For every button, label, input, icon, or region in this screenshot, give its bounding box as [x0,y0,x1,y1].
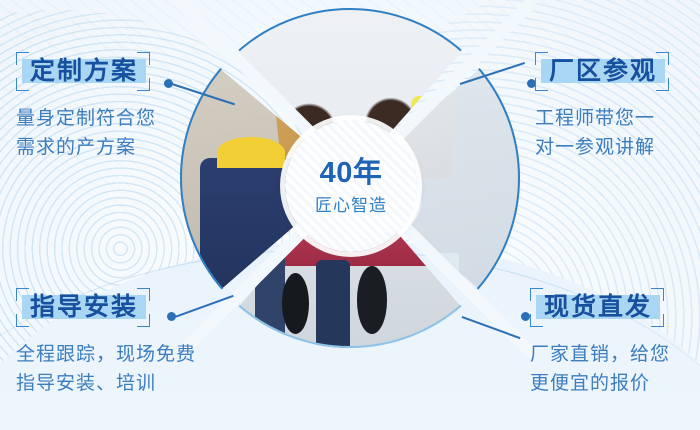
corner-bracket-top-left-icon [16,288,29,301]
center-headline: 40年 [320,159,383,188]
feature-description-line-1: 厂家直销，给您 [530,340,670,369]
feature-install-guidance[interactable]: 指导安装 全程跟踪，现场免费 指导安装、培训 [16,288,196,399]
feature-description-line-1: 全程跟踪，现场免费 [16,340,196,369]
feature-description-line-2: 对一参观讲解 [535,133,669,162]
feature-title: 定制方案 [30,59,138,84]
feature-title-box-install-guidance: 指导安装 [16,288,150,327]
corner-bracket-top-right-icon [656,52,669,65]
center-badge: 40年 匠心智造 [285,120,417,252]
feature-title-box-in-stock-direct: 现货直发 [530,288,664,327]
corner-bracket-bottom-left-icon [530,314,543,327]
feature-description: 厂家直销，给您 更便宜的报价 [530,340,670,399]
corner-bracket-bottom-left-icon [535,78,548,91]
feature-description-line-2: 更便宜的报价 [530,369,670,398]
feature-factory-visit[interactable]: 厂区参观 工程师带您一 对一参观讲解 [535,52,669,163]
photo-circle: 40年 匠心智造 [180,8,520,388]
feature-title: 现货直发 [544,295,652,320]
corner-bracket-bottom-right-icon [656,78,669,91]
corner-bracket-top-left-icon [530,288,543,301]
feature-description-line-2: 需求的产方案 [16,133,156,162]
corner-bracket-bottom-right-icon [137,314,150,327]
corner-bracket-bottom-left-icon [16,78,29,91]
feature-description: 工程师带您一 对一参观讲解 [535,104,669,163]
center-subline: 匠心智造 [315,197,387,214]
corner-bracket-bottom-right-icon [651,314,664,327]
feature-in-stock-direct[interactable]: 现货直发 厂家直销，给您 更便宜的报价 [530,288,670,399]
feature-custom-solution[interactable]: 定制方案 量身定制符合您 需求的产方案 [16,52,156,163]
feature-title-box-factory-visit: 厂区参观 [535,52,669,91]
corner-bracket-bottom-right-icon [137,78,150,91]
corner-bracket-top-left-icon [16,52,29,65]
feature-description-line-1: 工程师带您一 [535,104,669,133]
feature-description-line-2: 指导安装、培训 [16,369,196,398]
corner-bracket-top-right-icon [137,52,150,65]
feature-title-box-custom-solution: 定制方案 [16,52,150,91]
banner-root: 40年 匠心智造 定制方案 量身定制符合您 需求的产方案 [0,0,700,430]
corner-bracket-top-right-icon [651,288,664,301]
feature-title: 厂区参观 [549,59,657,84]
corner-bracket-bottom-left-icon [16,314,29,327]
feature-description: 全程跟踪，现场免费 指导安装、培训 [16,340,196,399]
corner-bracket-top-right-icon [137,288,150,301]
feature-title: 指导安装 [30,295,138,320]
feature-description-line-1: 量身定制符合您 [16,104,156,133]
corner-bracket-top-left-icon [535,52,548,65]
feature-description: 量身定制符合您 需求的产方案 [16,104,156,163]
